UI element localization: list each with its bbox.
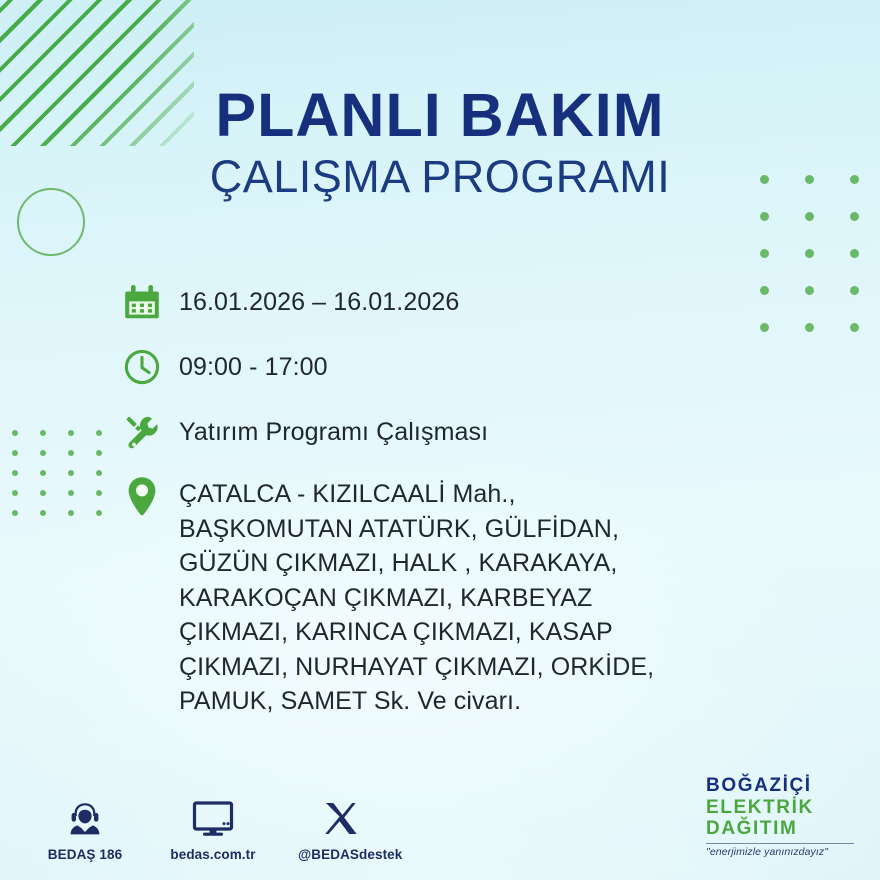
time-range-text: 09:00 - 17:00 [166, 343, 328, 384]
detail-row-time: 09:00 - 17:00 [118, 343, 758, 391]
address-line: GÜZÜN ÇIKMAZI, HALK , KARAKAYA, [179, 546, 654, 581]
headset-operator-icon [42, 794, 128, 840]
detail-row-work-type: Yatırım Programı Çalışması [118, 408, 758, 456]
calendar-icon [118, 278, 166, 326]
contact-social-x[interactable]: @BEDASdestek [298, 794, 384, 862]
contact-phone[interactable]: BEDAŞ 186 [42, 794, 128, 862]
clock-icon [118, 343, 166, 391]
location-pin-icon [118, 473, 166, 521]
brand-logo: BOĞAZİÇİ ELEKTRİK DAĞITIM "enerjimizle y… [706, 775, 856, 858]
address-line: ÇATALCA - KIZILCAALİ Mah., [179, 477, 654, 512]
address-line: BAŞKOMUTAN ATATÜRK, GÜLFİDAN, [179, 512, 654, 547]
brand-tagline: "enerjimizle yanınızdayız" [706, 846, 856, 858]
planned-maintenance-poster: PLANLI BAKIM ÇALIŞMA PROGRAMI [0, 0, 880, 880]
contact-website[interactable]: bedas.com.tr [170, 794, 256, 862]
dot-grid-left-decoration [12, 430, 124, 530]
date-range-text: 16.01.2026 – 16.01.2026 [166, 278, 459, 319]
title-subtitle: ÇALIŞMA PROGRAMI [0, 153, 880, 200]
address-text: ÇATALCA - KIZILCAALİ Mah., BAŞKOMUTAN AT… [166, 473, 654, 719]
brand-line-elektrik: ELEKTRİK [706, 797, 856, 819]
contact-social-label: @BEDASdestek [298, 847, 384, 862]
contact-phone-label: BEDAŞ 186 [42, 847, 128, 862]
brand-line-bogazici: BOĞAZİÇİ [706, 775, 856, 797]
address-line: ÇIKMAZI, NURHAYAT ÇIKMAZI, ORKİDE, [179, 650, 654, 685]
address-line: KARAKOÇAN ÇIKMAZI, KARBEYAZ [179, 581, 654, 616]
monitor-icon [170, 794, 256, 840]
detail-row-address: ÇATALCA - KIZILCAALİ Mah., BAŞKOMUTAN AT… [118, 473, 758, 719]
x-twitter-icon [298, 794, 384, 840]
dot-grid-right-decoration [760, 175, 880, 360]
work-type-text: Yatırım Programı Çalışması [166, 408, 488, 449]
address-line: ÇIKMAZI, KARINCA ÇIKMAZI, KASAP [179, 615, 654, 650]
detail-row-date: 16.01.2026 – 16.01.2026 [118, 278, 758, 326]
brand-line-dagitim: DAĞITIM [706, 818, 856, 840]
tools-icon [118, 408, 166, 456]
address-line: PAMUK, SAMET Sk. Ve civarı. [179, 684, 654, 719]
title-main: PLANLI BAKIM [0, 84, 880, 146]
maintenance-details-list: 16.01.2026 – 16.01.2026 09:00 - 17:00 [118, 278, 758, 719]
footer-contact-links: BEDAŞ 186 bedas.com.tr @BEDASdestek [42, 794, 384, 862]
page-title: PLANLI BAKIM ÇALIŞMA PROGRAMI [0, 84, 880, 200]
contact-website-label: bedas.com.tr [170, 847, 256, 862]
brand-divider [706, 843, 854, 844]
